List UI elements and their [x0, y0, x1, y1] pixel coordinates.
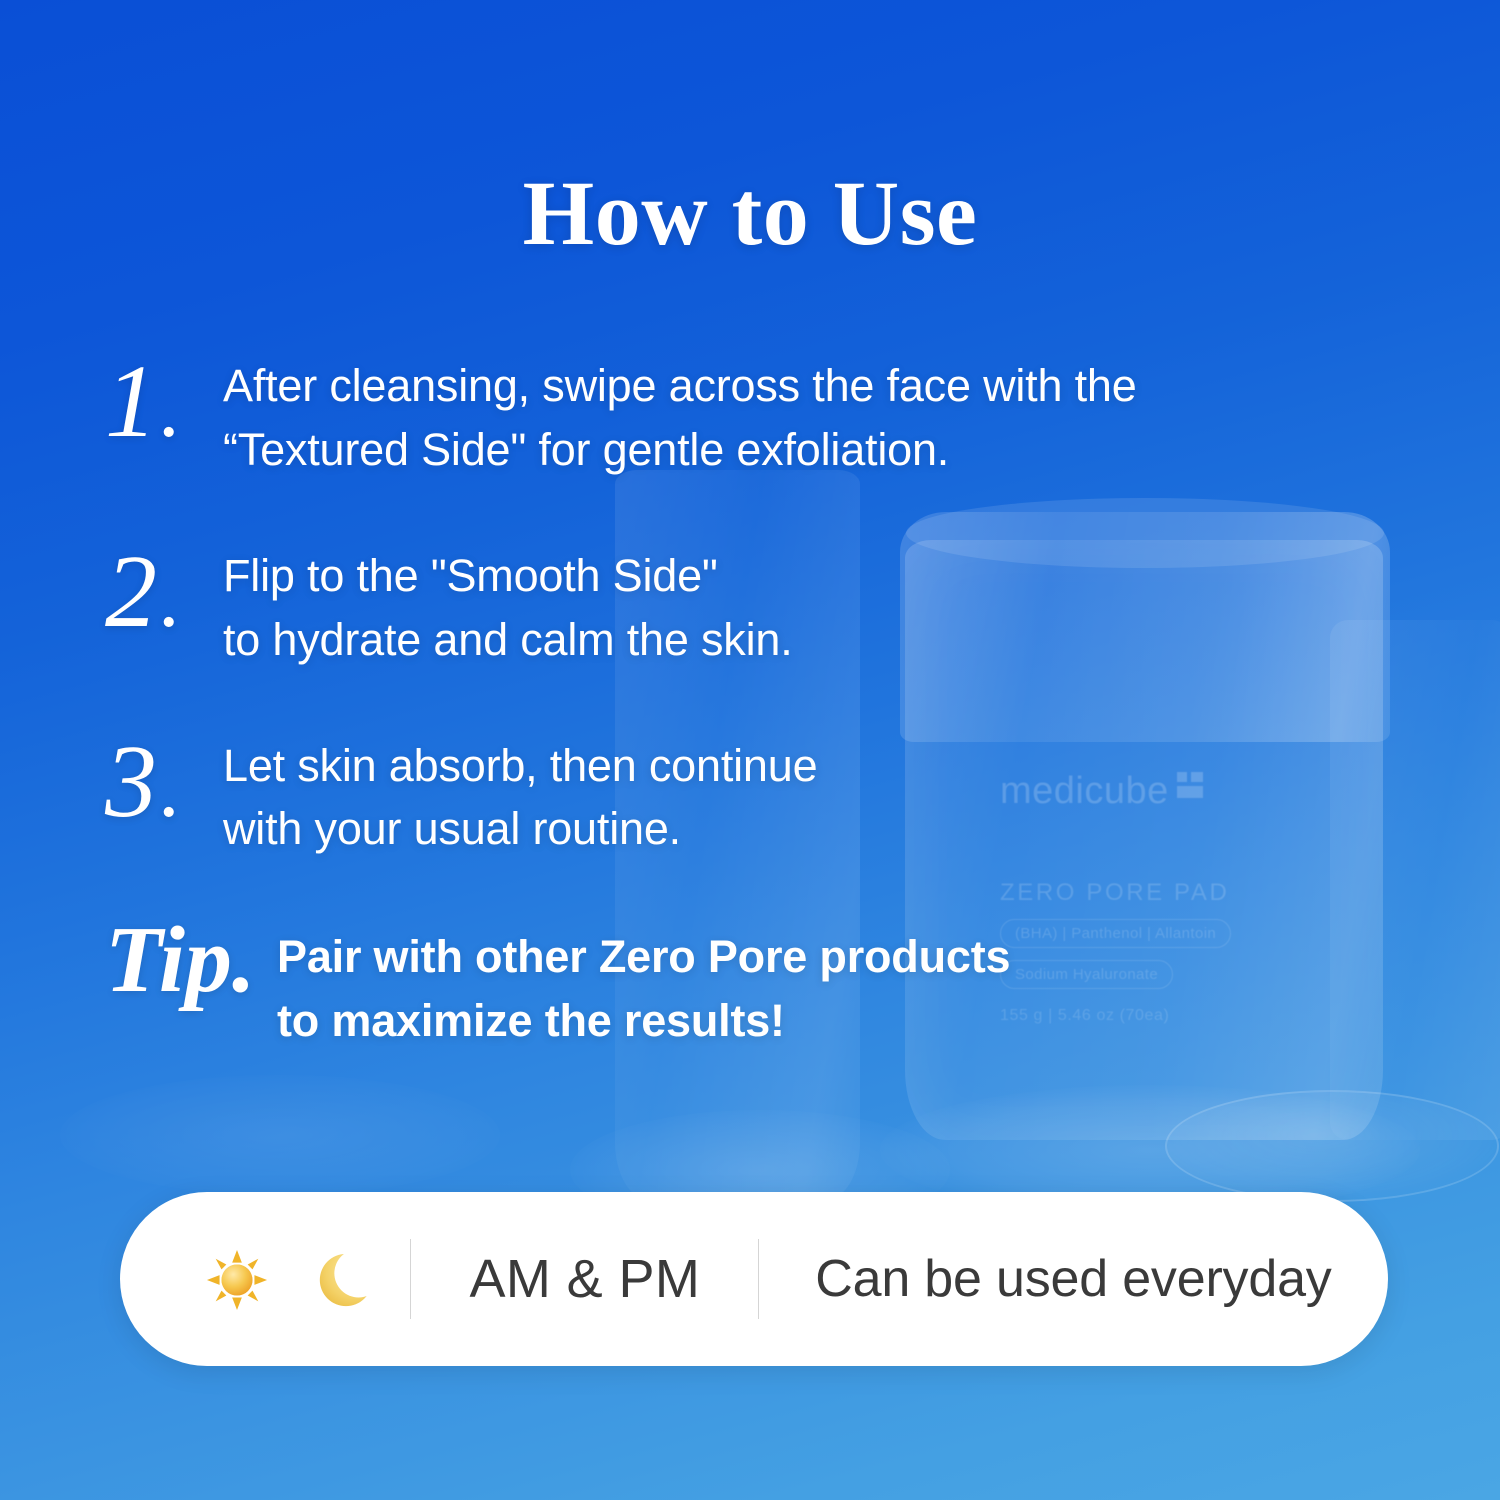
step-number-3: 3.: [105, 718, 223, 834]
usage-pill-bar: AM & PM Can be used everyday: [120, 1192, 1388, 1366]
step-numeral: 2: [105, 540, 157, 644]
tip-dot: .: [232, 913, 256, 1007]
tip-text: Pair with other Zero Pore products to ma…: [277, 907, 1405, 1053]
step-item-2: 2. Flip to the "Smooth Side" to hydrate …: [105, 528, 1405, 672]
step-item-1: 1. After cleansing, swipe across the fac…: [105, 338, 1405, 482]
step-number-2: 2.: [105, 528, 223, 644]
background-detached-lid: [1165, 1090, 1499, 1202]
sun-icon: [206, 1249, 268, 1311]
step-numeral-dot: .: [161, 575, 177, 637]
how-to-use-card: medicube ZERO PORE PAD (BHA) | Panthenol…: [0, 0, 1500, 1500]
step-numeral-dot: .: [161, 765, 177, 827]
step-text-line: Flip to the "Smooth Side": [223, 544, 1405, 608]
tip-word: Tip: [105, 913, 232, 1007]
step-numeral: 3: [105, 730, 157, 834]
step-numeral-dot: .: [161, 385, 177, 447]
steps-list: 1. After cleansing, swipe across the fac…: [105, 338, 1405, 1099]
usage-icons: [120, 1247, 410, 1311]
tip-text-line: to maximize the results!: [277, 989, 1405, 1053]
step-text-line: After cleansing, swipe across the face w…: [223, 354, 1405, 418]
step-text-line: Let skin absorb, then continue: [223, 734, 1405, 798]
step-number-1: 1.: [105, 338, 223, 454]
step-numeral: 1: [105, 350, 157, 454]
frequency-label: Can be used everyday: [759, 1249, 1331, 1309]
step-text-1: After cleansing, swipe across the face w…: [223, 338, 1405, 482]
tip-label: Tip.: [105, 907, 277, 1007]
ampm-label: AM & PM: [411, 1248, 758, 1310]
tip-item: Tip. Pair with other Zero Pore products …: [105, 907, 1405, 1053]
step-item-3: 3. Let skin absorb, then continue with y…: [105, 718, 1405, 862]
step-text-line: “Textured Side" for gentle exfoliation.: [223, 418, 1405, 482]
page-title: How to Use: [0, 160, 1500, 266]
step-text-2: Flip to the "Smooth Side" to hydrate and…: [223, 528, 1405, 672]
tip-text-line: Pair with other Zero Pore products: [277, 925, 1405, 989]
step-text-line: to hydrate and calm the skin.: [223, 608, 1405, 672]
step-text-line: with your usual routine.: [223, 797, 1405, 861]
step-text-3: Let skin absorb, then continue with your…: [223, 718, 1405, 862]
crescent-moon-icon: [314, 1249, 376, 1311]
